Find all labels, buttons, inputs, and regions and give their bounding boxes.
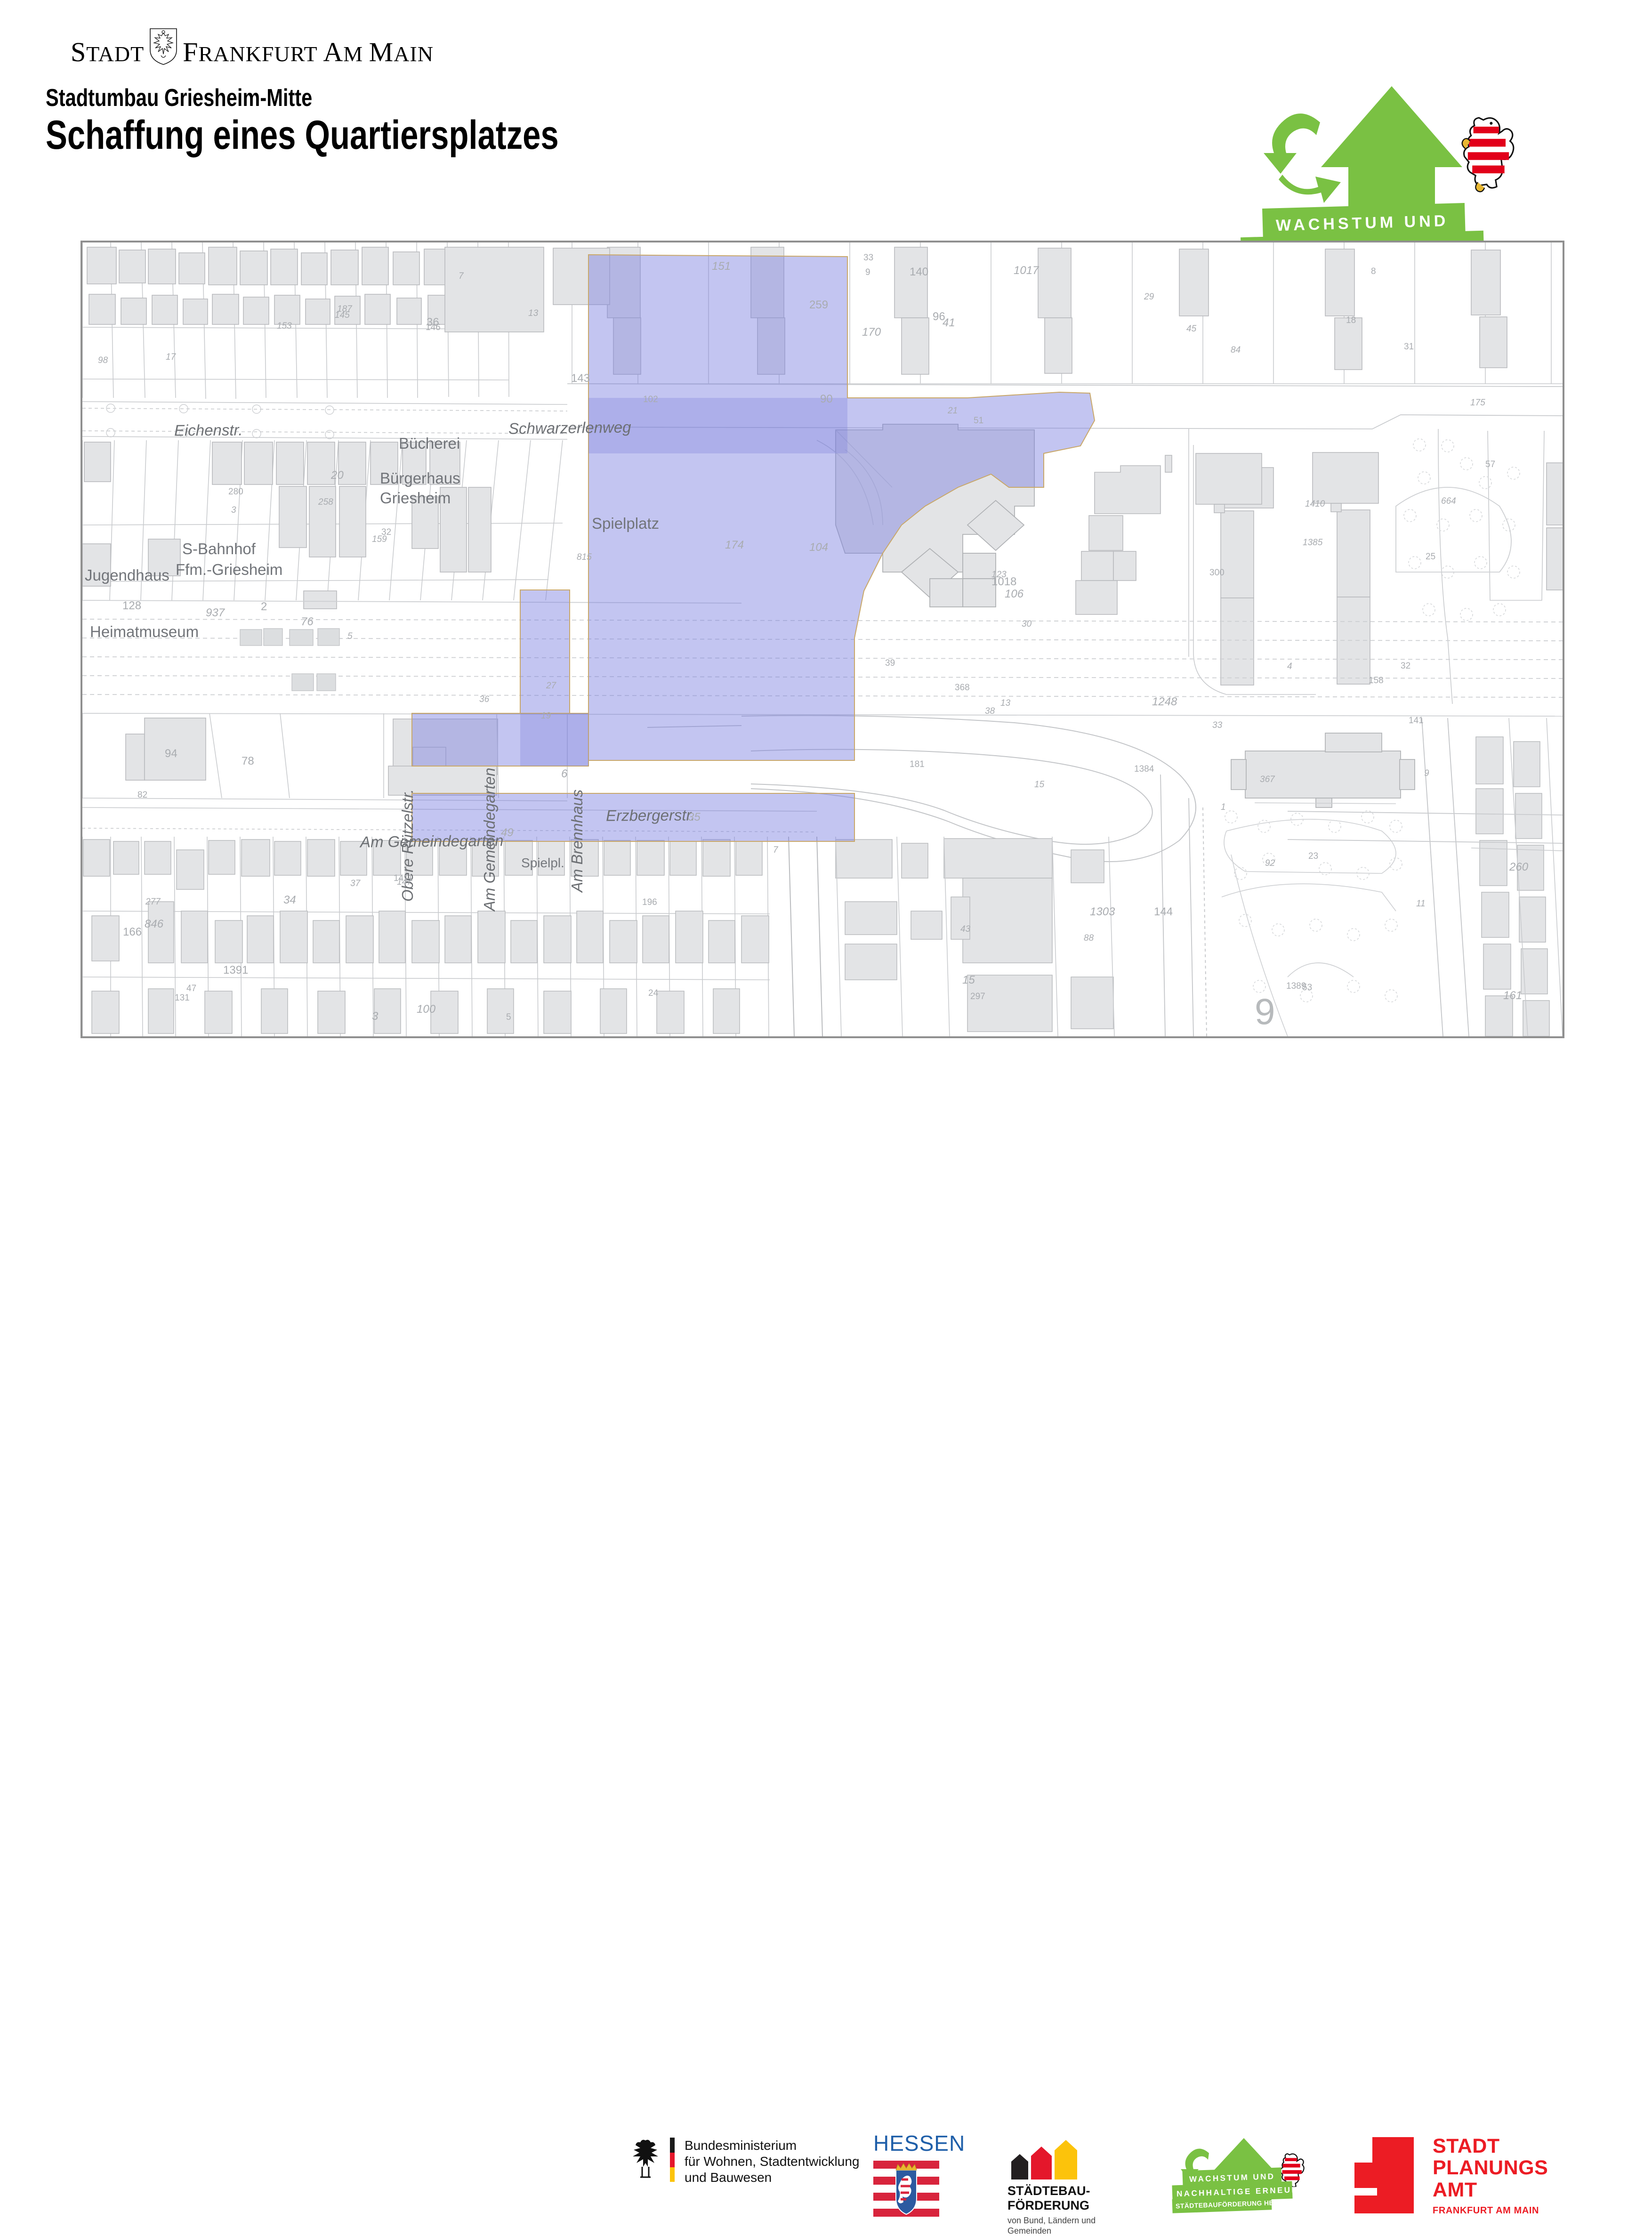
parcel-number: 7 [773,845,778,856]
bundesadler-icon [631,2138,660,2182]
parcel-number: 33 [863,253,873,263]
logo-word-stadt: STADT [71,39,144,66]
bmwsb-line2: für Wohnen, Stadtentwicklung [685,2154,859,2170]
parcel-number: 259 [809,299,828,312]
parcel-number: 1303 [1090,905,1115,919]
place-label-spielpl: Spielpl. [521,856,564,871]
stb-line1: STÄDTEBAU- [1007,2184,1096,2198]
spa-line1: STADT [1433,2135,1548,2157]
parcel-number: 33 [1212,720,1222,731]
parcel-number: 32 [381,527,391,538]
parcel-number: 57 [1485,460,1495,470]
parcel-number: 277 [145,897,161,907]
parcel-number: 30 [1022,619,1031,630]
map-vector-layer: 9 [82,242,1563,1036]
street-label-schwarzerlenweg: Schwarzerlenweg [508,418,631,437]
parcel-number: 104 [809,541,828,554]
cadastral-map[interactable]: 9 Eichenstr. Schwarzerlenweg Erzbergerst… [81,241,1564,1038]
parcel-number: 846 [145,918,163,931]
wachstum-erneuerung-logo: WACHSTUM UND NACHHALTIGE ERNEUERUNG STÄD… [1241,82,1571,266]
parcel-number: 53 [1302,983,1312,993]
parcel-number: 36 [427,316,439,329]
parcel-number: 141 [1409,716,1424,726]
parcel-number: 34 [283,894,296,907]
parcel-number: 3 [372,1010,378,1023]
parcel-number: 9 [1424,768,1429,779]
parcel-number: 31 [1404,342,1414,352]
parcel-number: 260 [1509,861,1528,874]
parcel-number: 76 [301,615,314,629]
parcel-number: 280 [228,487,243,497]
place-label-buecherei: Bücherei [399,435,460,452]
parcel-number: 1248 [1152,695,1177,709]
parcel-number: 25 [1426,552,1435,562]
parcel-number: 11 [1416,899,1426,909]
spa-line3: AMT [1433,2179,1548,2201]
parcel-number: 1017 [1014,264,1039,277]
stb-sub1: von Bund, Ländern und [1007,2216,1096,2226]
parcel-number: 45 [1186,324,1196,334]
parcel-number: 23 [1308,851,1318,862]
parcel-number: 94 [165,747,177,760]
parcel-number: 82 [137,790,147,800]
place-label-heimatmuseum: Heimatmuseum [90,623,199,641]
parcel-number: 41 [943,316,955,330]
parcel-number: 7 [459,271,464,282]
parcel-number: 20 [331,469,344,482]
parcel-number: 47 [186,984,196,994]
wachstum-erneuerung-footer-logo: WACHSTUM UND NACHHALTIGE ERNEUERUNG STÄD… [1172,2135,1328,2218]
parcel-number: 13 [528,308,538,319]
parcel-number: 21 [948,406,958,416]
stb-sub2: Gemeinden [1007,2226,1096,2236]
parcel-number: 174 [725,539,744,552]
parcel-number: 175 [1470,398,1485,408]
parcel-number: 18 [1346,315,1356,326]
parcel-number: 17 [166,352,176,363]
parcel-number: 88 [1084,933,1094,944]
logo-word-frankfurt-am-main: FRANKFURT AM MAIN [183,39,434,66]
street-label-am-gemeindegarten-vertical: Am Gemeindegarten [481,768,499,912]
bmwsb-line1: Bundesministerium [685,2138,859,2154]
frankfurt-eagle-crest-icon [149,27,178,66]
parcel-number: 196 [642,897,657,908]
bmwsb-line3: und Bauwesen [685,2170,859,2186]
parcel-number: 131 [175,993,190,1003]
parcel-number: 32 [1401,661,1410,671]
parcel-number: 15 [1034,780,1044,790]
hessen-logo: HESSEN [873,2131,965,2221]
stb-line2: FÖRDERUNG [1007,2198,1096,2213]
spa-sub: FRANKFURT AM MAIN [1433,2205,1548,2216]
place-label-s-bahnhof: S-Bahnhof [182,540,256,558]
parcel-number: 100 [417,1003,435,1016]
parcel-number: 1391 [223,964,248,977]
parcel-number: 368 [955,683,970,693]
stadt-frankfurt-logo: STADT FRANKFURT AM MAIN [71,26,372,66]
page-header: STADT FRANKFURT AM MAIN Stadtumbau Gries… [0,0,1652,235]
german-flag-bar-icon [669,2138,676,2182]
parcel-number: 1384 [1134,764,1154,775]
parcel-number: 1385 [1303,538,1322,548]
parcel-number: 84 [1231,345,1241,355]
parcel-number: 106 [1005,588,1023,601]
page-footer: Bundesministerium für Wohnen, Stadtentwi… [0,1059,1652,1168]
parcel-number: 1411 [394,873,413,884]
parcel-number: 29 [1144,292,1154,302]
parcel-number: 300 [1209,568,1225,578]
bmwsb-logo: Bundesministerium für Wohnen, Stadtentwi… [631,2138,859,2186]
parcel-number: 144 [1154,905,1173,919]
spa-line2: PLANUNGS [1433,2157,1548,2179]
parcel-number: 5 [506,1012,511,1023]
parcel-number: 123 [991,570,1007,580]
parcel-number: 90 [820,393,833,406]
parcel-number: 51 [974,416,983,426]
parcel-number: 15 [962,974,975,987]
street-label-erzbergerstr: Erzbergerstr. [606,806,695,824]
street-label-am-brennhaus: Am Brennhaus [568,790,586,892]
hessen-coat-of-arms-icon [873,2159,939,2219]
page-subtitle: Stadtumbau Griesheim-Mitte [46,84,312,112]
parcel-number: 3 [231,505,236,516]
parcel-number: 664 [1441,496,1456,507]
three-houses-icon [1007,2140,1078,2181]
parcel-number: 37 [350,879,360,889]
parcel-number: 49 [501,826,514,840]
parcel-number: 140 [910,266,928,279]
parcel-number: 6 [561,767,567,781]
stadtplanungsamt-logo: STADT PLANUNGS AMT FRANKFURT AM MAIN [1344,2135,1548,2216]
parcel-number: 367 [1260,775,1275,785]
parcel-number: 102 [643,395,658,405]
parcel-number: 39 [885,658,895,669]
parcel-number: 5 [347,631,353,642]
parcel-number: 36 [479,694,489,705]
parcel-number: 128 [122,599,141,613]
parcel-number: 815 [577,552,592,563]
hessen-wordmark: HESSEN [873,2131,965,2156]
parcel-number: 143 [571,372,590,385]
parcel-number: 8 [1371,266,1376,277]
parcel-number: 43 [960,924,970,935]
parcel-number: 1 [1221,802,1226,813]
parcel-number: 13 [1000,698,1010,709]
parcel-number: 24 [648,988,658,999]
parcel-number: 35 [688,811,701,824]
parcel-number: 92 [1265,858,1275,869]
parcel-number: 151 [712,260,731,273]
parcel-number: 170 [862,326,881,339]
parcel-number: 9 [865,267,870,278]
parcel-number: 158 [1369,676,1384,686]
parcel-number: 166 [123,926,142,939]
parcel-number: 2 [261,600,267,613]
parcel-number: 937 [206,606,225,620]
parcel-number: 181 [910,759,925,770]
place-label-ffm-griesheim: Ffm.-Griesheim [176,561,282,579]
parcel-number: 27 [546,681,556,691]
stadtplanungsamt-mark-icon [1344,2135,1415,2215]
parcel-number: 38 [985,706,995,717]
parcel-number: 258 [318,497,333,508]
parcel-number: 98 [98,355,108,366]
parcel-number: 19 [541,711,551,721]
parcel-number: 1410 [1305,499,1325,509]
place-label-buergerhaus: Bürgerhaus [380,469,460,487]
place-label-spielplatz: Spielplatz [592,515,659,533]
parcel-number: 153 [277,321,292,331]
staedtebaufoerderung-logo: STÄDTEBAU- FÖRDERUNG von Bund, Ländern u… [1007,2140,1096,2236]
place-label-griesheim: Griesheim [380,489,451,507]
svg-text:9: 9 [1255,991,1275,1032]
place-label-jugendhaus: Jugendhaus [85,566,169,584]
parcel-number: 78 [242,755,254,768]
page-title: Schaffung eines Quartiersplatzes [46,112,559,159]
parcel-number: 4 [1287,662,1292,672]
parcel-number: 161 [1503,989,1522,1002]
street-label-eichenstr: Eichenstr. [174,421,243,439]
parcel-number: 297 [970,992,985,1002]
parcel-number: 145 [335,310,350,321]
